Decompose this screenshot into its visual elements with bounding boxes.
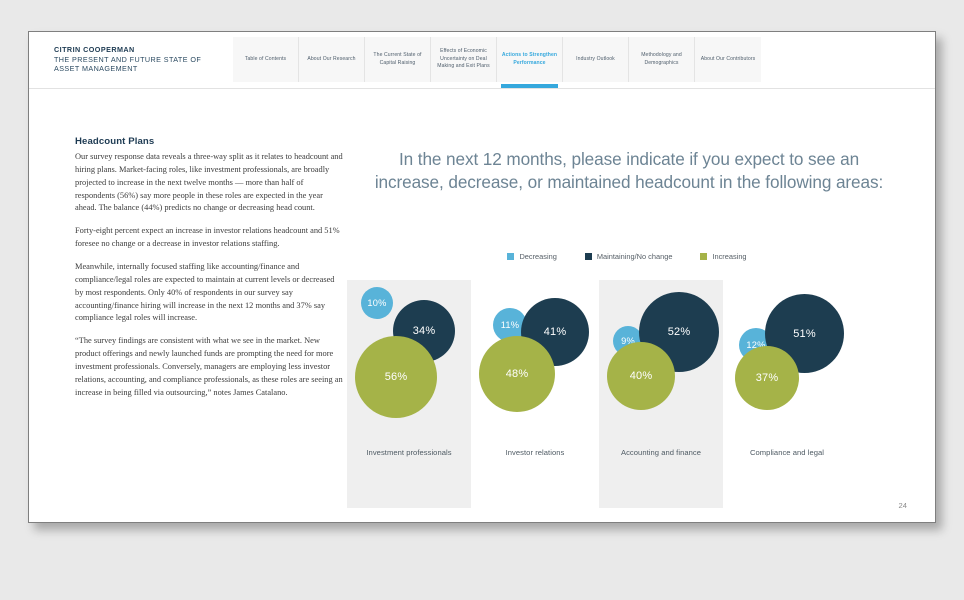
nav-tab-3[interactable]: Effects of Economic Uncertainty on Deal … (431, 37, 497, 82)
article-paragraph: Forty-eight percent expect an increase i… (75, 225, 343, 251)
bubble-value-label: 41% (544, 326, 567, 338)
nav-tab-label: About Our Research (307, 56, 355, 64)
bubble-group-3: 12%51%37%Compliance and legal (725, 280, 849, 508)
nav-tab-label: Actions to Strengthen Performance (500, 52, 559, 68)
bubble-value-label: 51% (793, 328, 816, 340)
article-column: Headcount Plans Our survey response data… (75, 136, 343, 410)
bubble-value-label: 40% (630, 370, 653, 382)
bubble-plot: 9%52%40% (599, 280, 723, 445)
chart-legend: DecreasingMaintaining/No changeIncreasin… (347, 252, 907, 261)
bubble-decreasing[interactable]: 10% (361, 287, 393, 319)
bubble-increasing[interactable]: 40% (607, 342, 675, 410)
bubble-group-0: 10%34%56%Investment professionals (347, 280, 471, 508)
legend-swatch-icon (507, 253, 514, 260)
page-number: 24 (899, 501, 907, 510)
bubble-chart: In the next 12 months, please indicate i… (347, 140, 907, 515)
nav-tab-2[interactable]: The Current State of Capital Raising (365, 37, 431, 82)
legend-label: Increasing (712, 252, 746, 261)
article-paragraph: “The survey findings are consistent with… (75, 335, 343, 399)
nav-tab-0[interactable]: Table of Contents (233, 37, 299, 82)
nav-tab-5[interactable]: Industry Outlook (563, 37, 629, 82)
nav-tab-bar[interactable]: Table of ContentsAbout Our ResearchThe C… (233, 37, 761, 82)
article-paragraph: Meanwhile, internally focused staffing l… (75, 261, 343, 325)
legend-swatch-icon (700, 253, 707, 260)
legend-entry-1: Maintaining/No change (585, 252, 673, 261)
brand-block: CITRIN COOPERMAN THE PRESENT AND FUTURE … (54, 45, 201, 74)
bubble-group-1: 11%41%48%Investor relations (473, 280, 597, 508)
bubble-plot: 12%51%37% (725, 280, 849, 445)
bubble-increasing[interactable]: 48% (479, 336, 555, 412)
nav-tab-label: Industry Outlook (576, 56, 615, 64)
nav-tab-7[interactable]: About Our Contributors (695, 37, 761, 82)
bubble-value-label: 52% (668, 326, 691, 338)
bubble-group-label: Accounting and finance (599, 448, 723, 457)
bubble-value-label: 34% (413, 325, 436, 337)
bubble-increasing[interactable]: 37% (735, 346, 799, 410)
brand-title-line2: ASSET MANAGEMENT (54, 64, 201, 74)
nav-tab-label: Table of Contents (245, 56, 286, 64)
nav-tab-label: About Our Contributors (701, 56, 756, 64)
article-heading: Headcount Plans (75, 136, 343, 147)
brand-company-name: CITRIN COOPERMAN (54, 45, 201, 55)
bubble-plot: 10%34%56% (347, 280, 471, 445)
document-page: CITRIN COOPERMAN THE PRESENT AND FUTURE … (28, 31, 936, 523)
bubble-value-label: 37% (756, 372, 779, 384)
bubble-value-label: 11% (501, 320, 520, 330)
brand-title-line1: THE PRESENT AND FUTURE STATE OF (54, 55, 201, 65)
bubble-group-container: 10%34%56%Investment professionals11%41%4… (347, 280, 907, 508)
legend-swatch-icon (585, 253, 592, 260)
nav-tab-label: Methodology and Demographics (632, 52, 691, 68)
bubble-increasing[interactable]: 56% (355, 336, 437, 418)
bubble-group-label: Investment professionals (347, 448, 471, 457)
chart-title: In the next 12 months, please indicate i… (365, 148, 893, 194)
bubble-value-label: 56% (385, 371, 408, 383)
article-body: Our survey response data reveals a three… (75, 151, 343, 400)
bubble-value-label: 10% (367, 298, 386, 308)
document-header: CITRIN COOPERMAN THE PRESENT AND FUTURE … (29, 32, 935, 82)
bubble-value-label: 48% (506, 368, 529, 380)
bubble-group-label: Investor relations (473, 448, 597, 457)
legend-entry-0: Decreasing (507, 252, 556, 261)
nav-tab-4[interactable]: Actions to Strengthen Performance (497, 37, 563, 82)
bubble-group-2: 9%52%40%Accounting and finance (599, 280, 723, 508)
nav-tab-label: The Current State of Capital Raising (368, 52, 427, 68)
nav-tab-1[interactable]: About Our Research (299, 37, 365, 82)
bubble-group-label: Compliance and legal (725, 448, 849, 457)
nav-tab-6[interactable]: Methodology and Demographics (629, 37, 695, 82)
legend-label: Maintaining/No change (597, 252, 673, 261)
legend-label: Decreasing (519, 252, 556, 261)
header-divider (29, 88, 935, 89)
bubble-plot: 11%41%48% (473, 280, 597, 445)
nav-tab-label: Effects of Economic Uncertainty on Deal … (434, 48, 493, 72)
legend-entry-2: Increasing (700, 252, 746, 261)
article-paragraph: Our survey response data reveals a three… (75, 151, 343, 215)
